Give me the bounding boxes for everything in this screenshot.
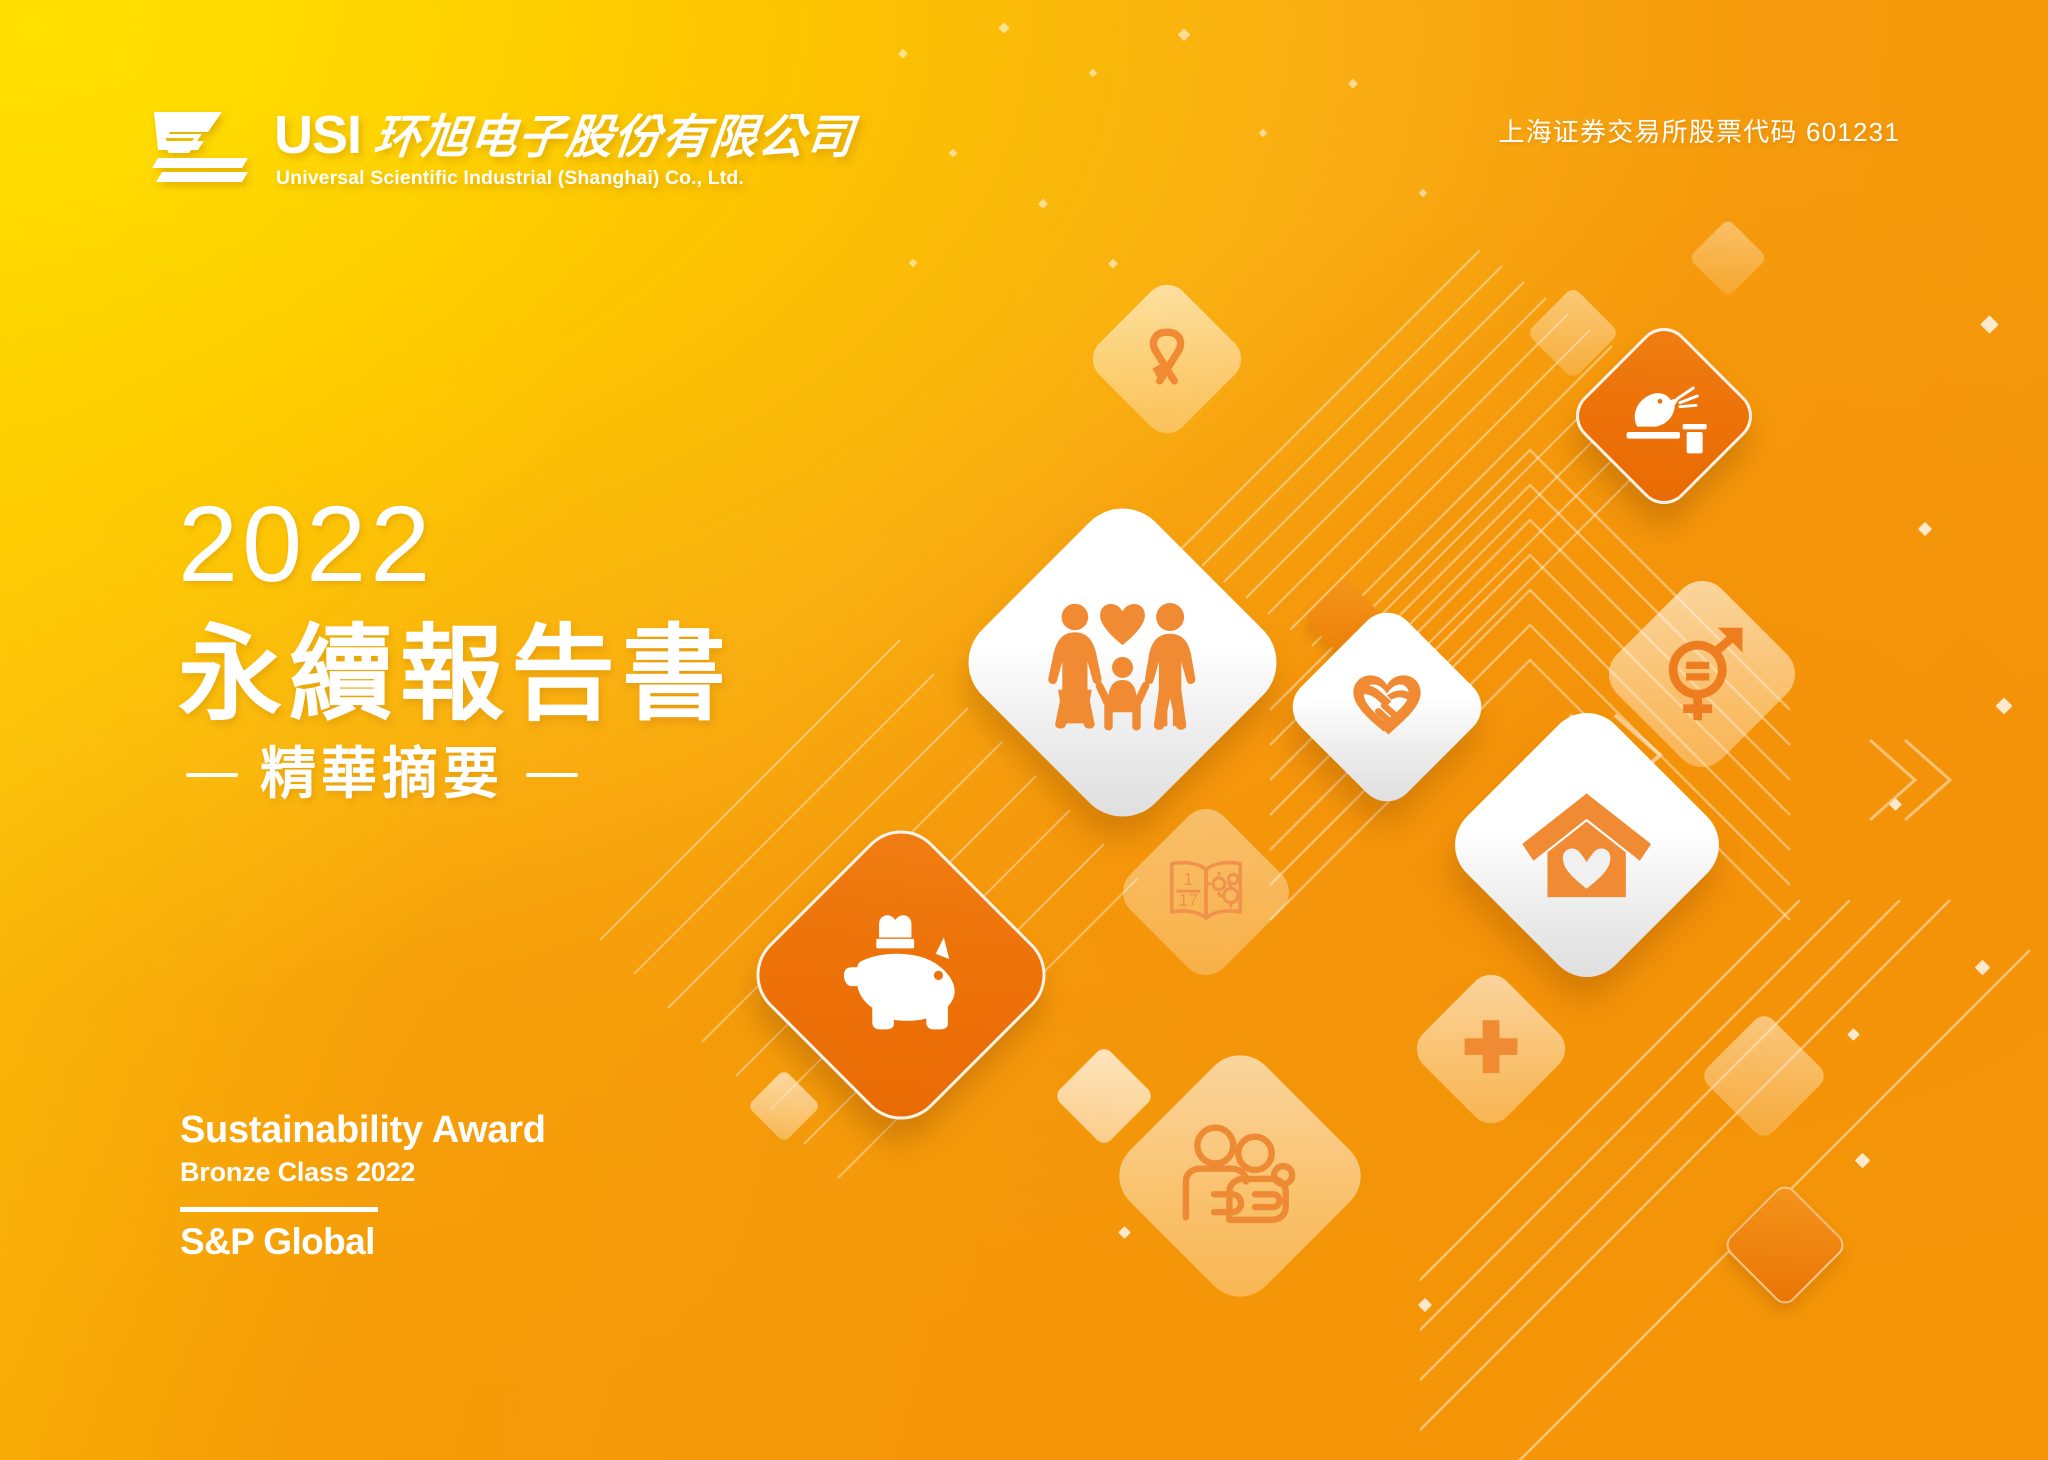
sparkle-diamond	[1855, 1153, 1871, 1169]
decorative-diamond-small	[1053, 1045, 1155, 1147]
awareness-ribbon-icon	[1084, 276, 1251, 443]
decorative-diamond-small	[747, 1069, 821, 1143]
report-year: 2022	[178, 490, 733, 598]
piggy-bank-icon	[738, 812, 1063, 1137]
sparkle-diamond	[1918, 522, 1932, 536]
subtitle-rule-right	[526, 773, 578, 777]
sparkle-diamond	[1980, 315, 1998, 333]
logo-company-cn: 环旭电子股份有限公司	[372, 114, 857, 161]
medical-cross-glyph	[1455, 1013, 1527, 1085]
award-class: Bronze Class 2022	[180, 1157, 546, 1188]
award-divider	[180, 1207, 378, 1212]
sparkle-diamond	[1889, 798, 1902, 811]
decorative-diamond-small	[1688, 218, 1767, 297]
book-gears-glyph: 1 17	[1160, 853, 1252, 931]
gender-equality-glyph	[1650, 622, 1754, 726]
sparkle-diamond	[1737, 1246, 1750, 1259]
decorative-diamond-small	[1721, 1181, 1848, 1308]
decorative-diamond-small	[1526, 286, 1619, 379]
book-page-denominator: 17	[1178, 890, 1198, 910]
dove-gavel-glyph	[1616, 373, 1712, 459]
dot-texture-top	[880, 10, 1500, 340]
piggy-bank-glyph	[820, 908, 982, 1043]
family-with-heart-icon	[949, 489, 1295, 835]
subtitle-row: 精華摘要	[186, 747, 733, 803]
sparkle-diamond	[1118, 1226, 1131, 1239]
usi-logo[interactable]: USI 环旭电子股份有限公司 Universal Scientific Indu…	[148, 108, 854, 190]
sparkle-diamond	[1975, 960, 1991, 976]
page-subtitle: 精華摘要	[260, 747, 504, 803]
house-heart-glyph	[1517, 788, 1657, 903]
subtitle-rule-left	[186, 773, 238, 777]
sparkle-diamond	[1418, 1298, 1432, 1312]
dove-and-gavel-icon	[1565, 317, 1763, 515]
handshake-heart-icon	[1281, 601, 1493, 813]
open-book-gears-icon: 1 17	[1113, 799, 1300, 986]
book-page-numerator: 1	[1183, 869, 1193, 889]
small-chevron-marks	[1860, 720, 1980, 840]
award-title: Sustainability Award	[180, 1108, 546, 1153]
family-glyph	[1039, 586, 1207, 740]
handshake-heart-glyph	[1336, 662, 1438, 752]
sparkle-diamond	[1996, 698, 2013, 715]
award-issuer: S&P Global	[180, 1221, 546, 1263]
report-cover: USI 环旭电子股份有限公司 Universal Scientific Indu…	[0, 0, 2048, 1460]
usi-logo-mark	[148, 108, 260, 184]
people-group-icon	[1104, 1040, 1376, 1312]
sustainability-award-badge: Sustainability Award Bronze Class 2022 S…	[180, 1108, 546, 1263]
people-group-glyph	[1176, 1120, 1304, 1233]
stock-code-label: 上海证券交易所股票代码 601231	[1498, 112, 1900, 149]
diagonal-line-bundle-bottom-right	[1420, 900, 2048, 1460]
medical-cross-icon	[1408, 966, 1575, 1133]
logo-abbr: USI	[274, 110, 361, 161]
cover-title-block: 2022 永續報告書 精華摘要	[178, 490, 733, 803]
decorative-diamond-small	[1699, 1011, 1829, 1141]
sparkle-diamond	[1847, 1028, 1860, 1041]
ribbon-glyph	[1128, 320, 1206, 398]
page-title: 永續報告書	[178, 620, 733, 729]
logo-company-en: Universal Scientific Industrial (Shangha…	[276, 167, 854, 190]
